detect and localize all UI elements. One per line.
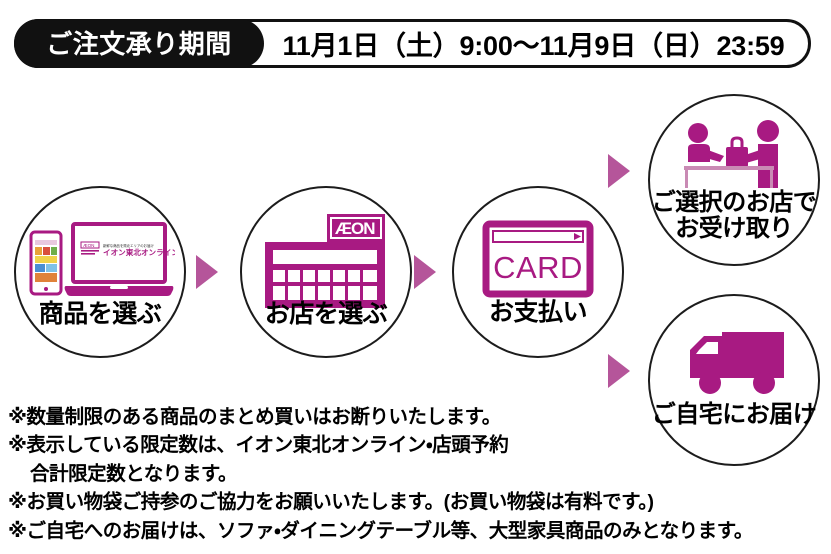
footnote-item: 合計限定数となります。 bbox=[8, 460, 708, 488]
flow-step-select-product-label: 商品を選ぶ bbox=[16, 301, 184, 328]
flow-step-store-pickup-label-line2: お受け取り bbox=[650, 216, 818, 242]
svg-text:ÆON: ÆON bbox=[83, 243, 94, 248]
flow-step-store-pickup-label: ご選択のお店で お受け取り bbox=[650, 190, 818, 242]
flow-step-select-product: ÆON 新鮮な商品を県北エリアのお届け イオン東北オンライン 商品を選ぶ bbox=[14, 186, 186, 358]
svg-text:イオン東北オンライン: イオン東北オンライン bbox=[103, 247, 175, 257]
footnote-item: ※表示している限定数は、イオン東北オンライン・店頭予約 bbox=[8, 431, 708, 459]
flow-step-payment-label: お支払い bbox=[454, 299, 622, 326]
flow-step-store-pickup-label-line1: ご選択のお店で bbox=[650, 190, 818, 216]
order-period-pill: ご注文承り期間 bbox=[14, 19, 264, 68]
order-period-pill-label: ご注文承り期間 bbox=[46, 31, 232, 57]
flow-arrow-3-icon bbox=[608, 154, 630, 188]
delivery-truck-icon bbox=[650, 326, 818, 402]
smartphone-laptop-icon: ÆON 新鮮な商品を県北エリアのお届け イオン東北オンライン bbox=[16, 214, 184, 308]
credit-card-icon: CARD bbox=[454, 220, 622, 302]
flow-arrow-1-icon bbox=[196, 255, 218, 289]
footnote-item: ※ご自宅へのお届けは、ソファ・ダイニングテーブル等、大型家具商品のみとなります。 bbox=[8, 517, 708, 545]
flow-step-select-store: ÆON お店を選ぶ bbox=[240, 186, 412, 358]
order-period-value: 11月1日（土）9:00〜11月9日（日）23:59 bbox=[269, 22, 798, 65]
flow-arrow-2-icon bbox=[414, 255, 436, 289]
footnote-item: ※お買い物袋ご持参のご協力をお願いいたします。(お買い物袋は有料です。) bbox=[8, 488, 708, 516]
flow-arrow-4-icon bbox=[608, 354, 630, 388]
aeon-store-building-icon: ÆON bbox=[242, 210, 410, 308]
flow-step-store-pickup: ご選択のお店で お受け取り bbox=[648, 94, 820, 266]
flow-step-select-store-label: お店を選ぶ bbox=[242, 301, 410, 328]
footnote-item: ※数量制限のある商品のまとめ買いはお断りいたします。 bbox=[8, 403, 708, 431]
order-period-banner: ご注文承り期間 11月1日（土）9:00〜11月9日（日）23:59 bbox=[14, 19, 811, 68]
counter-handover-icon bbox=[650, 118, 818, 198]
flow-step-payment: CARD お支払い bbox=[452, 186, 624, 358]
footnotes-list: ※数量制限のある商品のまとめ買いはお断りいたします。 ※表示している限定数は、イ… bbox=[8, 403, 708, 545]
svg-text:ÆON: ÆON bbox=[335, 219, 375, 238]
svg-text:CARD: CARD bbox=[493, 250, 583, 285]
